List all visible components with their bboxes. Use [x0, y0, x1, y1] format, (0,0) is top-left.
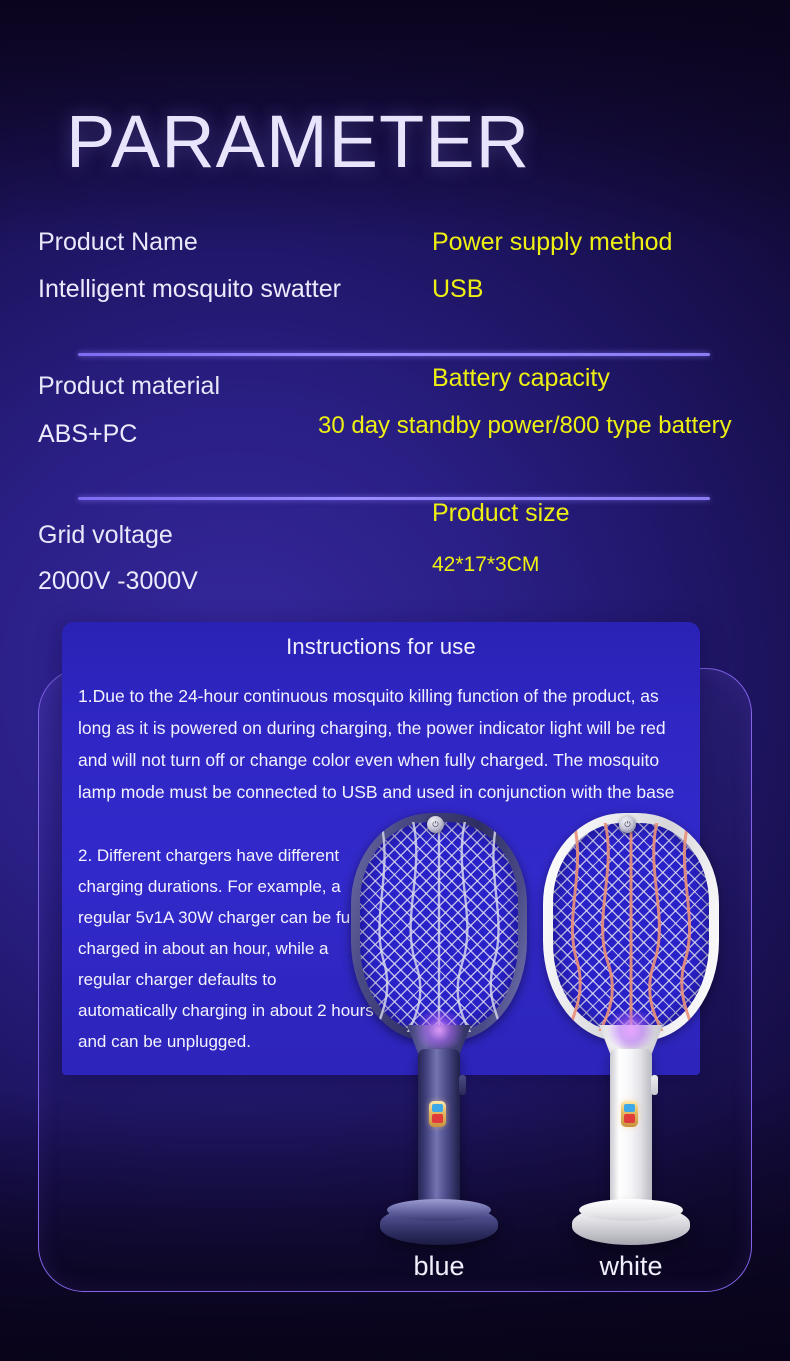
spec-value-grid-voltage: 2000V -3000V [38, 567, 198, 596]
product-image-blue: ⏻ blue [349, 813, 529, 1253]
product-label-white: white [541, 1251, 721, 1282]
racket-mesh-blue [360, 822, 518, 1032]
spec-value-product-material: ABS+PC [38, 420, 137, 449]
spec-label-product-name: Product Name [38, 228, 198, 257]
spec-value-power-supply: USB [432, 275, 483, 304]
status-indicator-badge-blue [429, 1101, 446, 1127]
spec-label-power-supply: Power supply method [432, 228, 672, 257]
spec-value-product-size: 42*17*3CM [432, 553, 539, 577]
spec-value-battery-capacity: 30 day standby power/800 type battery [318, 412, 732, 440]
racket-head-blue: ⏻ [351, 813, 527, 1041]
charging-base-top-white [579, 1199, 683, 1221]
spec-divider-1 [78, 353, 710, 356]
status-indicator-badge-white [621, 1101, 638, 1127]
spec-divider-2 [78, 497, 710, 500]
charging-base-top-blue [387, 1199, 491, 1221]
page-title: PARAMETER [66, 105, 530, 179]
spec-label-product-size: Product size [432, 499, 570, 528]
racket-mesh-white [553, 823, 709, 1031]
spec-value-product-name: Intelligent mosquito swatter [38, 275, 341, 304]
racket-wave-lines-white [553, 823, 709, 1031]
power-button-icon-white[interactable]: ⏻ [619, 816, 636, 833]
product-label-blue: blue [349, 1251, 529, 1282]
spec-label-battery-capacity: Battery capacity [432, 364, 610, 393]
power-button-icon-blue[interactable]: ⏻ [427, 816, 444, 833]
racket-wave-lines-blue [360, 822, 518, 1032]
instructions-paragraph-1: 1.Due to the 24-hour continuous mosquito… [78, 680, 692, 808]
spec-label-grid-voltage: Grid voltage [38, 521, 173, 550]
product-image-white: ⏻ white [541, 813, 721, 1253]
led-glow-blue [411, 1011, 467, 1049]
racket-head-white: ⏻ [543, 813, 719, 1041]
instructions-paragraph-2: 2. Different chargers have different cha… [78, 840, 378, 1057]
spec-label-product-material: Product material [38, 372, 220, 401]
side-button-white[interactable] [651, 1075, 658, 1095]
led-glow-white [603, 1011, 659, 1049]
side-button-blue[interactable] [459, 1075, 466, 1095]
instructions-heading: Instructions for use [62, 634, 700, 660]
product-spec-page: PARAMETER Product Name Intelligent mosqu… [0, 0, 790, 1361]
